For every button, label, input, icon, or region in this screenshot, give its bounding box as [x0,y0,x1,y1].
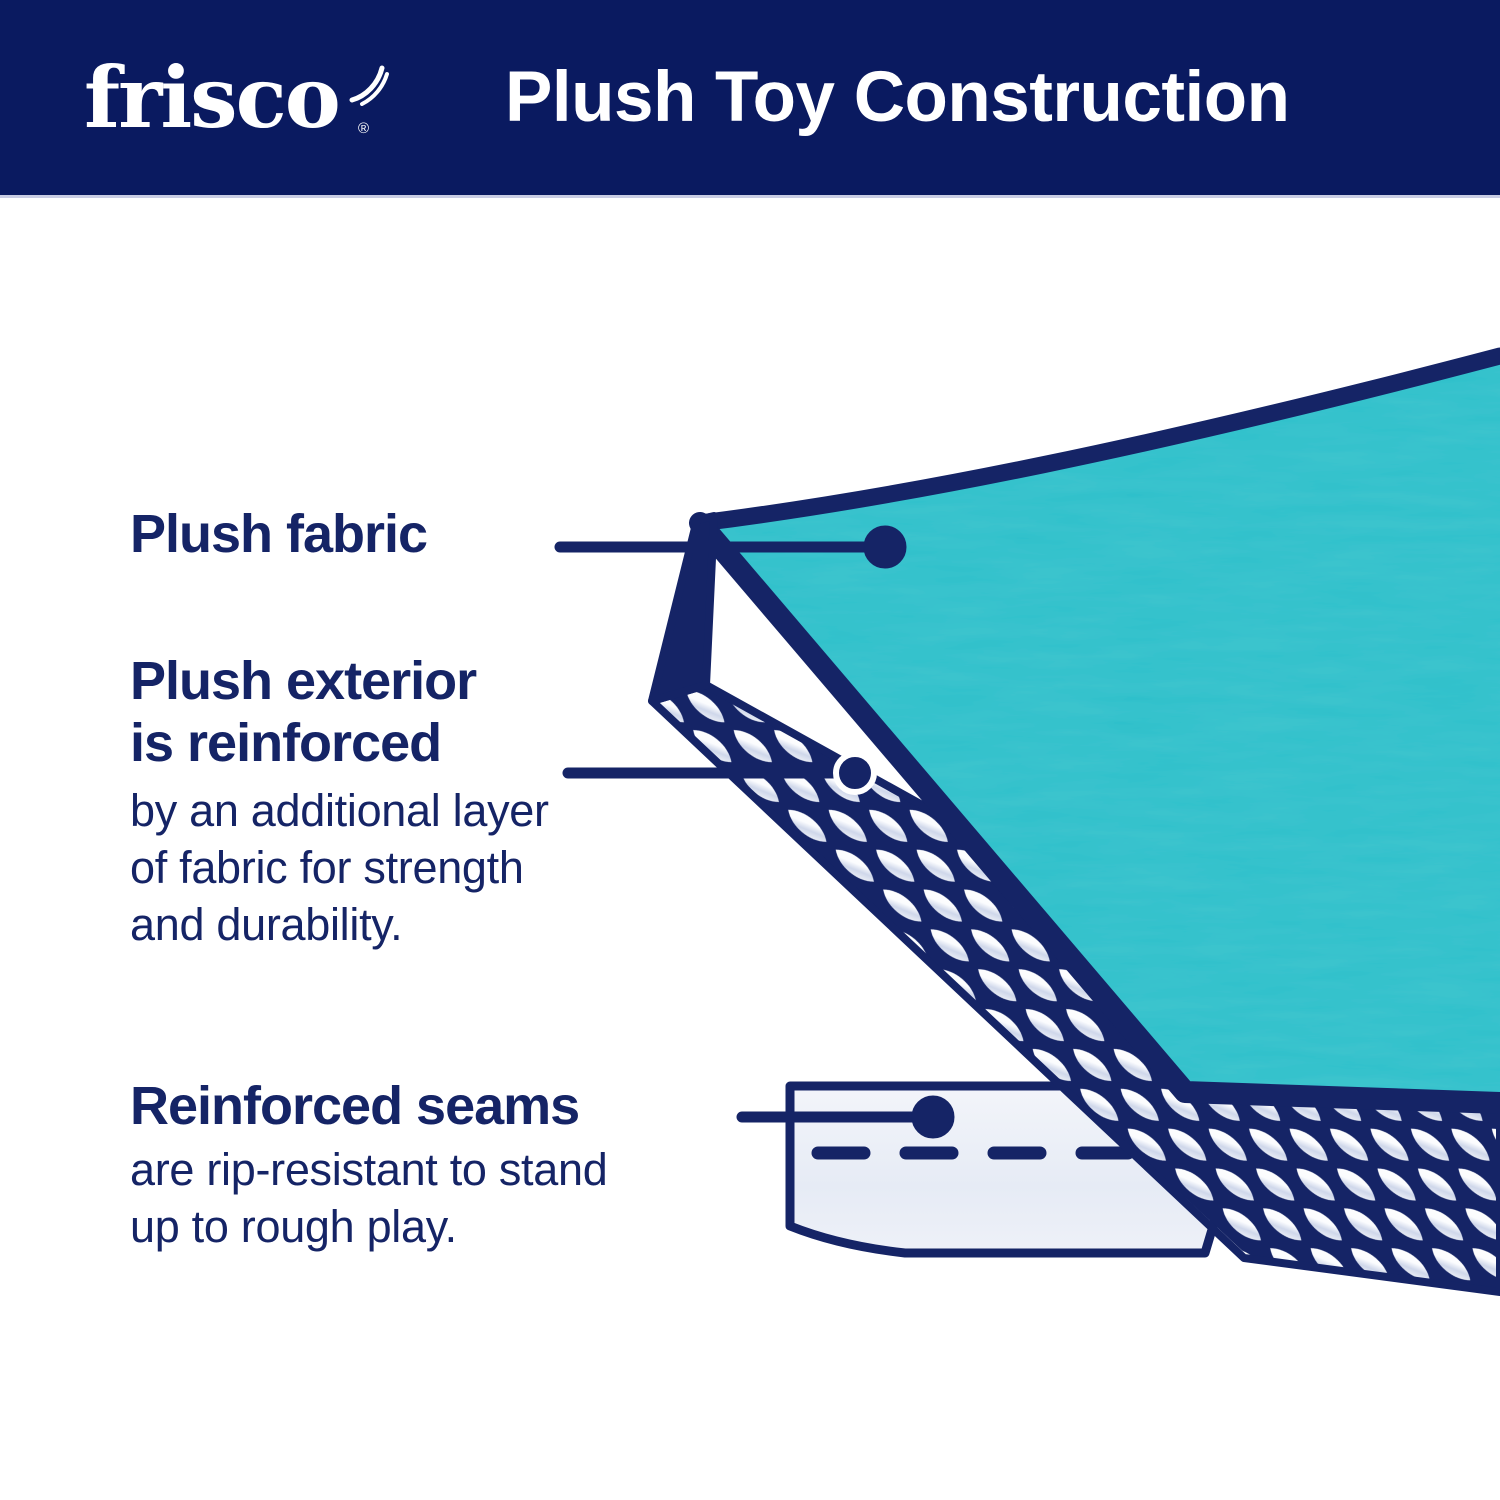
callout-reinforced-seams-title: Reinforced seams [130,1075,790,1137]
page-title: Plush Toy Construction [505,48,1289,148]
callout-plush-fabric: Plush fabric [130,503,560,565]
registered-trademark-mark: ® [358,120,369,137]
callout-reinforced-seams-body: are rip-resistant to stand up to rough p… [130,1141,790,1255]
callout-reinforced-exterior: Plush exterior is reinforced by an addit… [130,650,730,953]
plush-fabric-layer [700,356,1500,1103]
leader-dot-reinforced-exterior [836,754,874,792]
frisco-logo-text: frisco [84,48,339,147]
header-bar: frisco ® Plush Toy Construction [0,0,1500,198]
callout-reinforced-exterior-body: by an additional layer of fabric for str… [130,782,730,953]
callout-reinforced-exterior-title: Plush exterior is reinforced [130,650,730,774]
frisco-logo: frisco ® [84,52,384,144]
leader-dot-plush-fabric [864,526,906,568]
leader-dot-reinforced-seams [912,1096,954,1138]
callout-plush-fabric-title: Plush fabric [130,503,560,565]
logo-swoosh-icon [348,62,392,106]
infographic-page: frisco ® Plush Toy Construction [0,0,1500,1500]
callout-reinforced-seams: Reinforced seams are rip-resistant to st… [130,1075,790,1255]
